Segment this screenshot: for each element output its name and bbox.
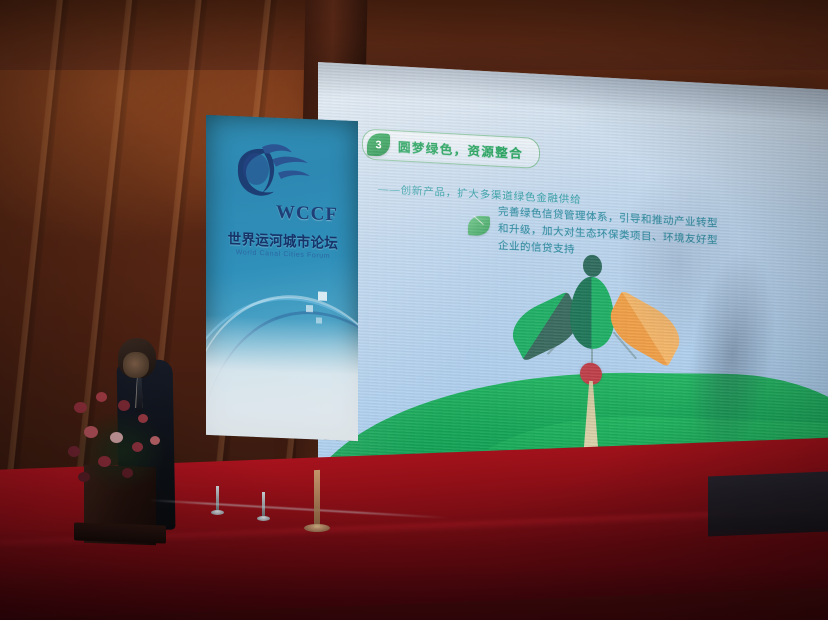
stage-microphone-base-1: [211, 510, 224, 515]
banner-square-1: [318, 292, 327, 301]
floor-stand-base: [304, 524, 330, 532]
projection-screen: 3 圆梦绿色，资源整合 ——创新产品，扩大多渠道绿色金融供给 完善绿色信贷管理体…: [318, 62, 828, 500]
podium-base: [74, 522, 166, 543]
stage-dark-floor-right: [708, 471, 828, 536]
screen-glare: [318, 62, 828, 500]
speaker-face: [123, 352, 149, 378]
slide-content: 3 圆梦绿色，资源整合 ——创新产品，扩大多渠道绿色金融供给 完善绿色信贷管理体…: [318, 62, 828, 500]
banner-square-2: [306, 305, 313, 312]
wccf-acronym: WCCF: [276, 202, 338, 227]
wccf-banner: WCCF 世界运河城市论坛 World Canal Cities Forum: [206, 115, 358, 441]
floor-stand: [314, 470, 320, 528]
wccf-wave-logo-icon: [228, 138, 314, 208]
floral-arrangement: [62, 384, 180, 504]
photograph-scene: 3 圆梦绿色，资源整合 ——创新产品，扩大多渠道绿色金融供给 完善绿色信贷管理体…: [0, 0, 828, 620]
wccf-logo: WCCF: [224, 138, 340, 229]
stage-microphone-1: [216, 486, 219, 512]
banner-bottom-fade: [206, 315, 358, 441]
stage-microphone-base-2: [257, 516, 270, 521]
